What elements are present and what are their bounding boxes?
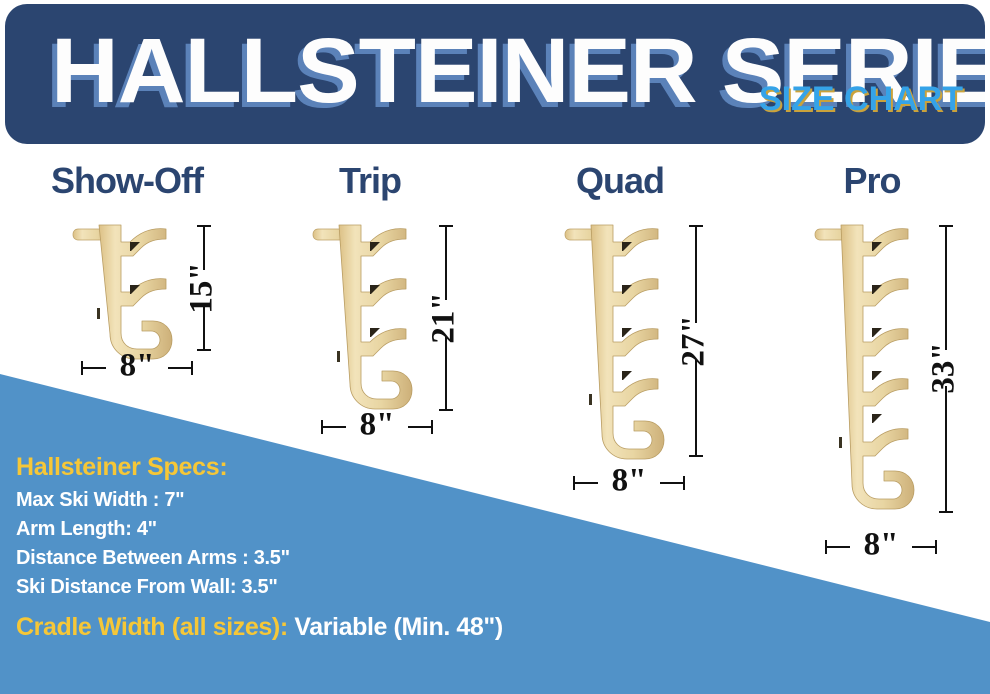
dimension-width-pro: 8" xyxy=(820,527,942,563)
spec-line-ski-distance-from-wall: Ski Distance From Wall: 3.5" xyxy=(16,573,716,602)
product-name-show-off: Show-Off xyxy=(51,160,203,202)
dimension-width-trip: 8" xyxy=(316,407,438,443)
cradle-width-key: Cradle Width (all sizes): xyxy=(16,613,288,641)
dimension-height-label-trip: 21" xyxy=(426,292,462,343)
dimension-height-trip: 21" xyxy=(418,224,474,412)
dimension-height-pro: 33" xyxy=(918,224,974,514)
spec-line-max-ski-width: Max Ski Width : 7" xyxy=(16,486,716,515)
specs-panel: Hallsteiner Specs: Max Ski Width : 7" Ar… xyxy=(16,452,716,643)
size-chart-infographic: HALLSTEINER SERIES SIZE CHART Show-Off xyxy=(0,0,990,694)
dimension-height-label-pro: 33" xyxy=(926,342,962,393)
specs-title: Hallsteiner Specs: xyxy=(16,452,716,482)
product-name-pro: Pro xyxy=(843,160,900,202)
dimension-height-quad: 27" xyxy=(668,224,724,458)
cradle-width-line: Cradle Width (all sizes): Variable (Min.… xyxy=(16,611,716,643)
dimension-width-label-show-off: 8" xyxy=(120,348,155,384)
dimension-width-show-off: 8" xyxy=(76,348,198,384)
product-name-quad: Quad xyxy=(576,160,664,202)
header-banner: HALLSTEINER SERIES SIZE CHART xyxy=(5,4,985,144)
dimension-height-label-show-off: 15" xyxy=(184,262,220,313)
spec-line-arm-length: Arm Length: 4" xyxy=(16,515,716,544)
cradle-width-value: Variable (Min. 48") xyxy=(294,613,503,641)
dimension-height-label-quad: 27" xyxy=(676,315,712,366)
dimension-height-show-off: 15" xyxy=(176,224,232,352)
header-subtitle: SIZE CHART xyxy=(759,80,963,119)
dimension-width-label-pro: 8" xyxy=(864,527,899,563)
spec-line-distance-between-arms: Distance Between Arms : 3.5" xyxy=(16,544,716,573)
dimension-width-label-trip: 8" xyxy=(360,407,395,443)
product-name-trip: Trip xyxy=(339,160,401,202)
